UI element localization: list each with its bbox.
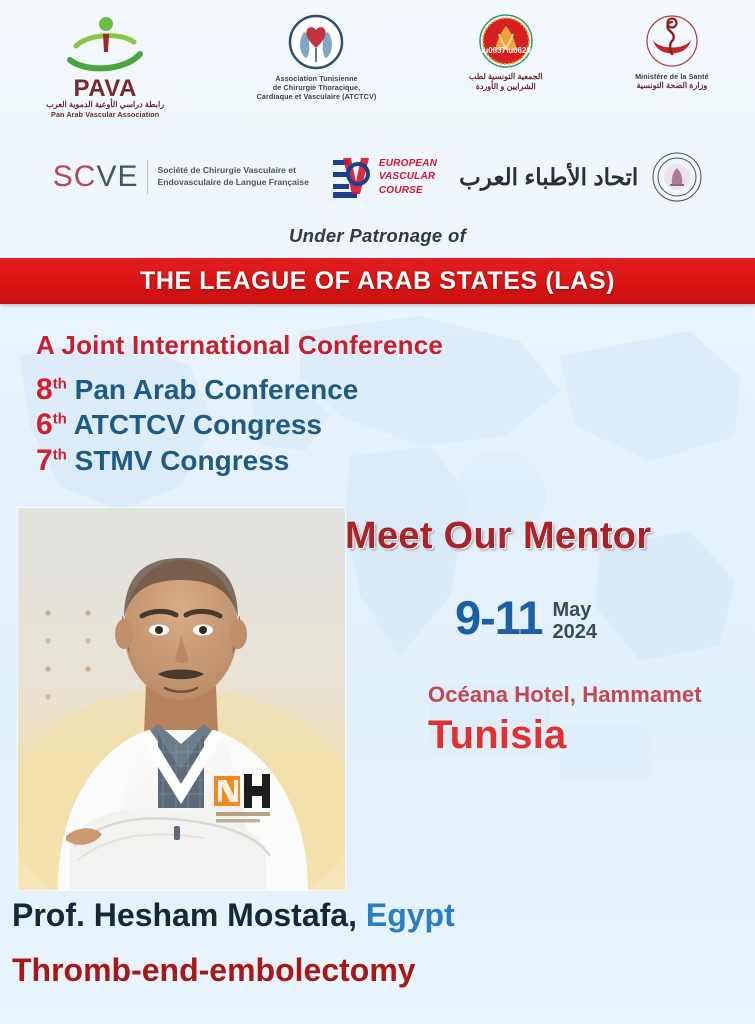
scve-subtitle-line1: Société de Chirurgie Vasculaire et	[157, 165, 308, 177]
conference-event-3: 7th STMV Congress	[36, 443, 556, 478]
european-vascular-course-logo: EUROPEAN VASCULAR COURSE	[331, 154, 437, 200]
sponsor-logo-row-secondary: SCVE Société de Chirurgie Vasculaire et …	[0, 142, 755, 212]
league-of-arab-states-banner: THE LEAGUE OF ARAB STATES (LAS)	[0, 258, 755, 304]
pava-figure-icon	[62, 14, 148, 76]
event-2-name: ATCTCV Congress	[74, 409, 322, 440]
speaker-name: Prof. Hesham Mostafa,	[12, 897, 357, 933]
event-3-number: 7	[36, 444, 53, 477]
event-country: Tunisia	[428, 713, 755, 758]
svg-text:\u0637\u0628: \u0637\u0628	[481, 46, 531, 55]
event-date-block: 9-11 May 2024	[455, 596, 597, 644]
event-month: May	[552, 599, 597, 621]
ministry-caption-arabic: وزارة الصحة التونسية	[635, 81, 709, 91]
league-of-arab-states-text: THE LEAGUE OF ARAB STATES (LAS)	[140, 267, 615, 296]
evc-line-2: VASCULAR	[379, 170, 437, 183]
scve-letter-v: V	[96, 160, 117, 193]
atctcv-logo: Association Tunisienne de Chirurgie Thor…	[257, 14, 377, 101]
speaker-country: Egypt	[366, 897, 455, 933]
conference-event-2: 6th ATCTCV Congress	[36, 407, 556, 442]
pava-caption-arabic: رابطة دراسي الأوعية الدموية العرب	[46, 100, 164, 110]
event-month-year: May 2024	[552, 596, 597, 644]
heart-lungs-icon	[288, 14, 344, 70]
talk-title: Thromb-end-embolectomy	[12, 952, 752, 989]
asclepius-rod-icon	[645, 14, 699, 68]
scve-logo: SCVE Société de Chirurgie Vasculaire et …	[53, 160, 309, 194]
ministry-of-health-logo: Ministère de la Santé وزارة الصحة التونس…	[635, 14, 709, 91]
scve-letter-e: E	[117, 160, 138, 193]
ministry-caption-french: Ministère de la Santé	[635, 72, 709, 81]
speaker-photo	[18, 508, 345, 890]
event-3-ordinal: th	[53, 446, 67, 463]
tunisian-society-caption-line2: الشرايين و الأوردة	[469, 82, 543, 92]
conference-event-1: 8th Pan Arab Conference	[36, 372, 556, 407]
arab-medical-union-seal-icon	[652, 152, 702, 202]
tunisian-vascular-society-logo: \u0637\u0628 الجمعية التونسية لطب الشراي…	[469, 14, 543, 92]
evc-monogram-icon	[331, 154, 373, 200]
event-1-ordinal: th	[53, 376, 67, 393]
joint-conference-line: A Joint International Conference	[36, 330, 556, 361]
conference-poster: PAVA رابطة دراسي الأوعية الدموية العرب P…	[0, 0, 755, 1024]
pava-caption-english: Pan Arab Vascular Association	[46, 110, 164, 119]
event-2-ordinal: th	[53, 411, 67, 428]
event-2-number: 6	[36, 408, 53, 441]
sponsor-logo-row-primary: PAVA رابطة دراسي الأوعية الدموية العرب P…	[0, 14, 755, 134]
event-date-range: 9-11	[455, 596, 542, 639]
scve-letter-s: S	[53, 160, 74, 193]
pava-wordmark: PAVA	[46, 78, 164, 100]
arab-medical-union-logo: اتحاد الأطباء العرب	[459, 152, 702, 202]
speaker-name-line: Prof. Hesham Mostafa, Egypt	[12, 897, 752, 934]
scve-divider	[147, 160, 148, 194]
scve-subtitle: Société de Chirurgie Vasculaire et Endov…	[157, 165, 308, 188]
atctcv-caption-line2: de Chirurgie Thoracique,	[257, 83, 377, 92]
scve-wordmark: SCVE	[53, 162, 139, 192]
evc-line-3: COURSE	[379, 184, 437, 197]
patronage-label: Under Patronage of	[0, 225, 755, 247]
atctcv-caption-line1: Association Tunisienne	[257, 74, 377, 83]
tunisian-society-caption-line1: الجمعية التونسية لطب	[469, 72, 543, 82]
scve-subtitle-line2: Endovasculaire de Langue Française	[157, 177, 308, 189]
scve-letter-c: C	[74, 160, 97, 193]
event-1-name: Pan Arab Conference	[75, 374, 359, 405]
arab-medical-union-wordmark: اتحاد الأطباء العرب	[459, 164, 638, 191]
evc-wordmark: EUROPEAN VASCULAR COURSE	[379, 157, 437, 197]
tunisian-society-seal-icon: \u0637\u0628	[479, 14, 533, 68]
event-venue: Océana Hotel, Hammamet	[428, 682, 755, 708]
meet-our-mentor-heading: Meet Our Mentor	[345, 515, 755, 558]
evc-line-1: EUROPEAN	[379, 157, 437, 170]
event-1-number: 8	[36, 373, 53, 406]
pava-logo: PAVA رابطة دراسي الأوعية الدموية العرب P…	[46, 14, 164, 119]
event-year: 2024	[552, 621, 597, 643]
event-3-name: STMV Congress	[75, 445, 290, 476]
conference-title-block: A Joint International Conference 8th Pan…	[36, 330, 556, 478]
atctcv-caption-line3: Cardiaque et Vasculaire (ATCTCV)	[257, 92, 377, 101]
